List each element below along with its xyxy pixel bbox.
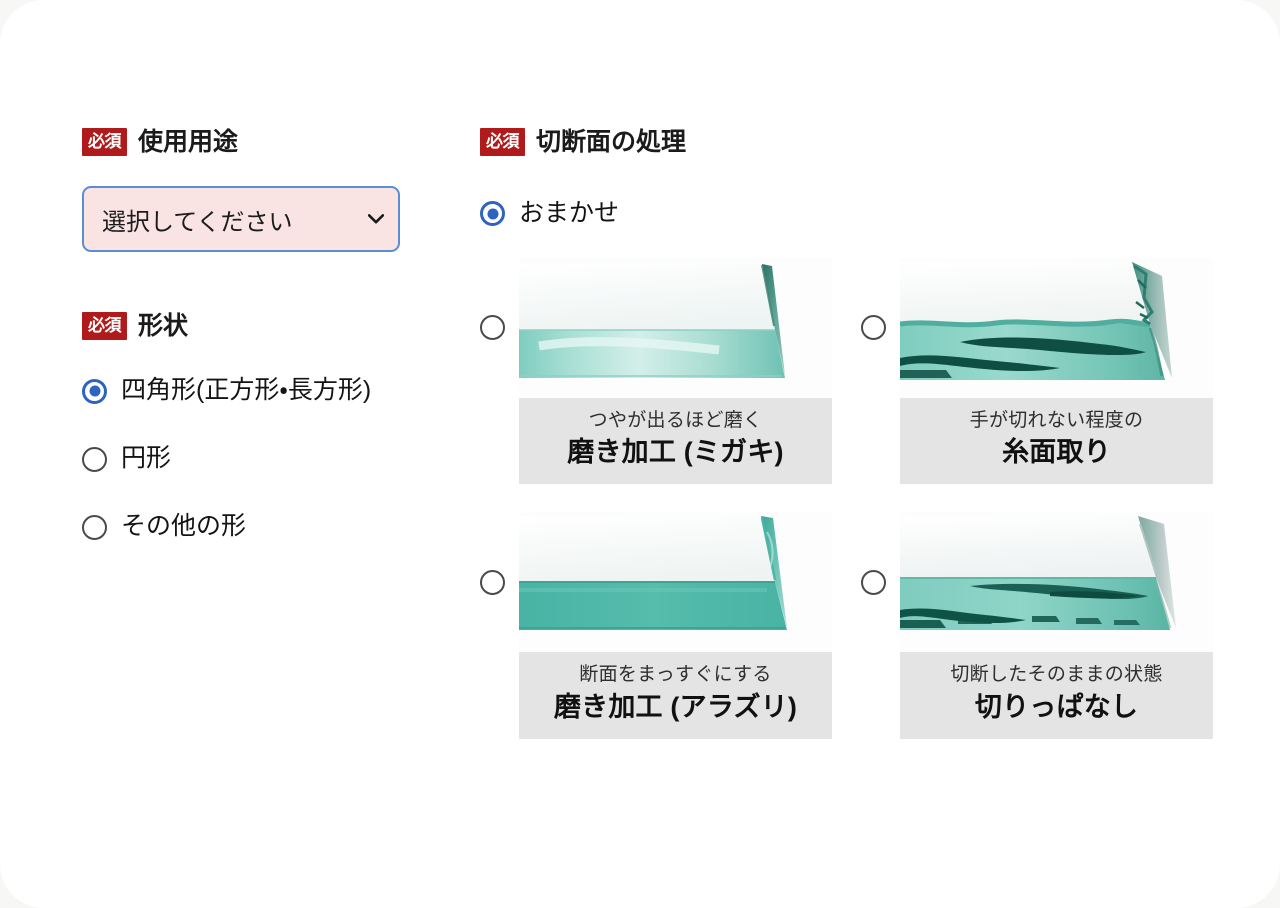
omakase-label: おまかせ (519, 200, 619, 228)
radio-icon[interactable] (480, 570, 505, 595)
shape-radio-group: 四角形(正方形・長方形) 円形 その他の形 (82, 368, 442, 550)
page-card: 必須 使用用途 選択してください 必須 形状 (0, 0, 1280, 908)
edge-card-sub: 手が切れない程度の (906, 410, 1207, 433)
radio-icon[interactable] (82, 379, 107, 404)
edge-card-caption: つやが出るほど磨く 磨き加工 (ミガキ) (519, 398, 832, 485)
edge-card-row-arazuri[interactable]: 断面をまっすぐにする 磨き加工 (アラズリ) (480, 512, 839, 739)
edge-card-radio-hold[interactable] (480, 512, 505, 652)
shape-field-label: 必須 形状 (82, 312, 442, 340)
edge-card-sub: 断面をまっすぐにする (525, 664, 826, 687)
shape-option-rectangle[interactable]: 四角形(正方形・長方形) (82, 368, 442, 414)
required-badge: 必須 (480, 128, 525, 156)
edge-card-grid: つやが出るほど磨く 磨き加工 (ミガキ) (480, 258, 1220, 740)
usage-field-label: 必須 使用用途 (82, 128, 442, 156)
edge-card-row-kirippanashi[interactable]: 切断したそのままの状態 切りっぱなし (861, 512, 1220, 739)
edge-field-label: 必須 切断面の処理 (480, 128, 1220, 156)
raw-cut-glass-edge-photo (900, 512, 1213, 652)
radio-icon[interactable] (82, 447, 107, 472)
shape-option-circle[interactable]: 円形 (82, 436, 442, 482)
polished-glass-edge-photo (519, 258, 832, 398)
edge-card-arazuri[interactable]: 断面をまっすぐにする 磨き加工 (アラズリ) (519, 512, 832, 739)
shape-option-label: その他の形 (121, 513, 246, 541)
required-badge: 必須 (82, 128, 127, 156)
chamfered-glass-edge-photo (900, 258, 1213, 398)
required-badge: 必須 (82, 312, 127, 340)
right-column: 必須 切断面の処理 おまかせ (480, 128, 1220, 739)
edge-card-main: 磨き加工 (ミガキ) (525, 437, 826, 468)
edge-card-main: 糸面取り (906, 437, 1207, 468)
edge-card-itomentori[interactable]: 手が切れない程度の 糸面取り (900, 258, 1213, 485)
edge-card-caption: 手が切れない程度の 糸面取り (900, 398, 1213, 485)
radio-icon[interactable] (861, 570, 886, 595)
edge-label-text: 切断面の処理 (536, 130, 686, 155)
edge-card-sub: つやが出るほど磨く (525, 410, 826, 433)
left-column: 必須 使用用途 選択してください 必須 形状 (82, 128, 442, 550)
edge-card-caption: 断面をまっすぐにする 磨き加工 (アラズリ) (519, 652, 832, 739)
usage-select[interactable]: 選択してください (82, 186, 400, 252)
radio-icon[interactable] (82, 515, 107, 540)
usage-select-value: 選択してください (102, 202, 293, 237)
shape-field-label-block: 必須 形状 (82, 312, 442, 340)
shape-option-label: 四角形(正方形・長方形) (121, 377, 371, 405)
edge-option-omakase[interactable]: おまかせ (480, 200, 1220, 228)
usage-label-text: 使用用途 (138, 130, 238, 155)
edge-card-row-migaki[interactable]: つやが出るほど磨く 磨き加工 (ミガキ) (480, 258, 839, 485)
edge-card-migaki[interactable]: つやが出るほど磨く 磨き加工 (ミガキ) (519, 258, 832, 485)
edge-card-kirippanashi[interactable]: 切断したそのままの状態 切りっぱなし (900, 512, 1213, 739)
shape-option-other[interactable]: その他の形 (82, 504, 442, 550)
shape-option-label: 円形 (121, 445, 171, 473)
radio-icon[interactable] (480, 315, 505, 340)
glass-order-form: 必須 使用用途 選択してください 必須 形状 (0, 0, 1280, 908)
shape-label-text: 形状 (138, 314, 188, 339)
edge-card-radio-hold[interactable] (861, 512, 886, 652)
edge-card-radio-hold[interactable] (480, 258, 505, 398)
ground-glass-edge-photo (519, 512, 832, 652)
edge-card-radio-hold[interactable] (861, 258, 886, 398)
radio-icon[interactable] (861, 315, 886, 340)
edge-card-row-itomentori[interactable]: 手が切れない程度の 糸面取り (861, 258, 1220, 485)
edge-card-main: 切りっぱなし (906, 692, 1207, 723)
edge-card-caption: 切断したそのままの状態 切りっぱなし (900, 652, 1213, 739)
radio-icon[interactable] (480, 201, 505, 226)
edge-card-sub: 切断したそのままの状態 (906, 664, 1207, 687)
usage-select-wrap[interactable]: 選択してください (82, 186, 400, 252)
edge-card-main: 磨き加工 (アラズリ) (525, 692, 826, 723)
